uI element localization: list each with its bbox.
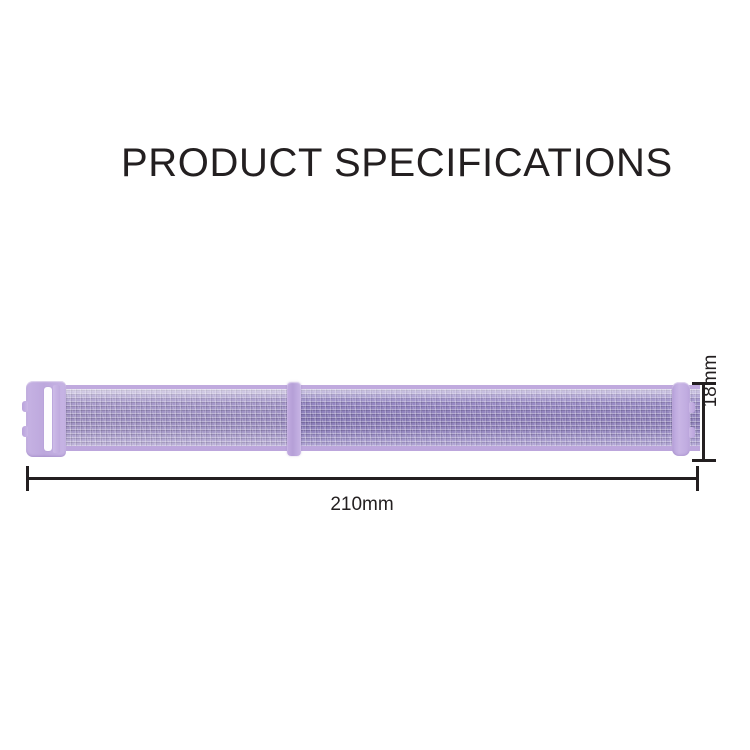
- weave-sheen-overlay: [300, 389, 700, 446]
- end-connector-tab-lower: [689, 427, 695, 438]
- height-dimension-label: 18mm: [700, 348, 722, 414]
- strap-tail-section: [60, 385, 300, 451]
- weave-sheen-overlay: [60, 389, 300, 446]
- buckle-tab-upper: [22, 401, 28, 412]
- keeper-loop: [287, 382, 301, 456]
- product-specification-page: PRODUCT SPECIFICATIONS: [0, 0, 750, 750]
- page-title: PRODUCT SPECIFICATIONS: [121, 141, 673, 186]
- end-connector-bar: [672, 382, 690, 456]
- width-dimension-label: 210mm: [0, 494, 724, 516]
- strap-body-section: [300, 385, 700, 451]
- width-dimension-cap-left: [26, 466, 29, 491]
- buckle-slot: [44, 387, 52, 451]
- width-dimension-cap-right: [696, 466, 699, 491]
- height-dimension-cap-bottom: [692, 459, 716, 462]
- width-dimension-line: [27, 477, 697, 480]
- buckle-tab-lower: [22, 426, 28, 437]
- buckle: [26, 381, 66, 457]
- end-connector-tab-upper: [689, 402, 695, 413]
- watch-band-product-image: [26, 381, 697, 457]
- buckle-inner-edge: [53, 385, 60, 453]
